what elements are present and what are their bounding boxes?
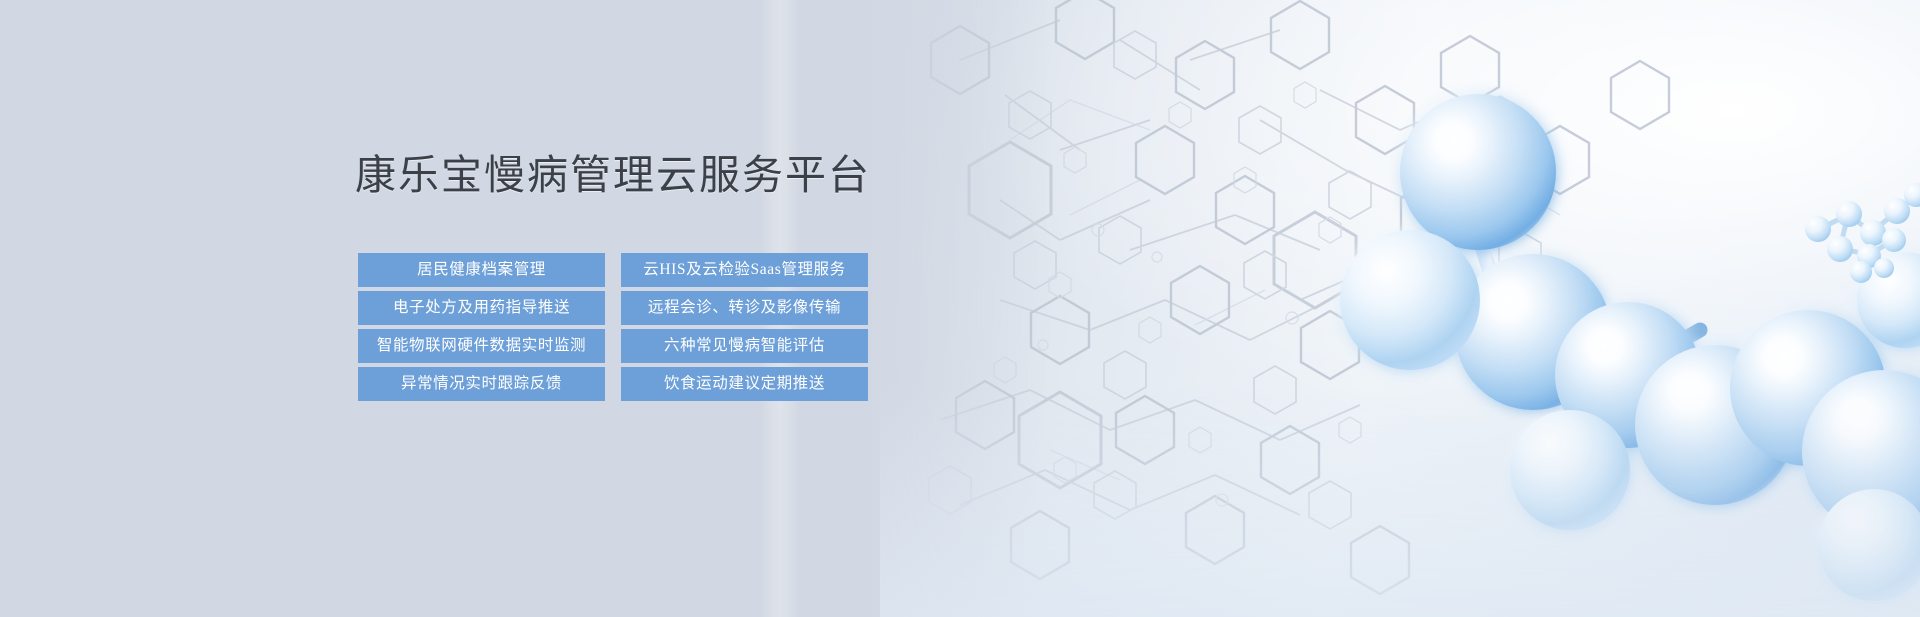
feature-tile-1[interactable]: 居民健康档案管理 [358, 253, 605, 287]
feature-tile-6[interactable]: 六种常见慢病智能评估 [621, 329, 868, 363]
feature-tile-8[interactable]: 饮食运动建议定期推送 [621, 367, 868, 401]
feature-tile-3[interactable]: 电子处方及用药指导推送 [358, 291, 605, 325]
feature-tile-5[interactable]: 智能物联网硬件数据实时监测 [358, 329, 605, 363]
page-title: 康乐宝慢病管理云服务平台 [355, 141, 871, 201]
feature-tile-2[interactable]: 云HIS及云检验Saas管理服务 [621, 253, 868, 287]
banner-hero: 康乐宝慢病管理云服务平台 居民健康档案管理 云HIS及云检验Saas管理服务 电… [0, 0, 1920, 617]
bottom-fade-overlay [880, 387, 1920, 617]
feature-tile-4[interactable]: 远程会诊、转诊及影像传输 [621, 291, 868, 325]
feature-tile-7[interactable]: 异常情况实时跟踪反馈 [358, 367, 605, 401]
feature-grid: 居民健康档案管理 云HIS及云检验Saas管理服务 电子处方及用药指导推送 远程… [358, 253, 868, 401]
